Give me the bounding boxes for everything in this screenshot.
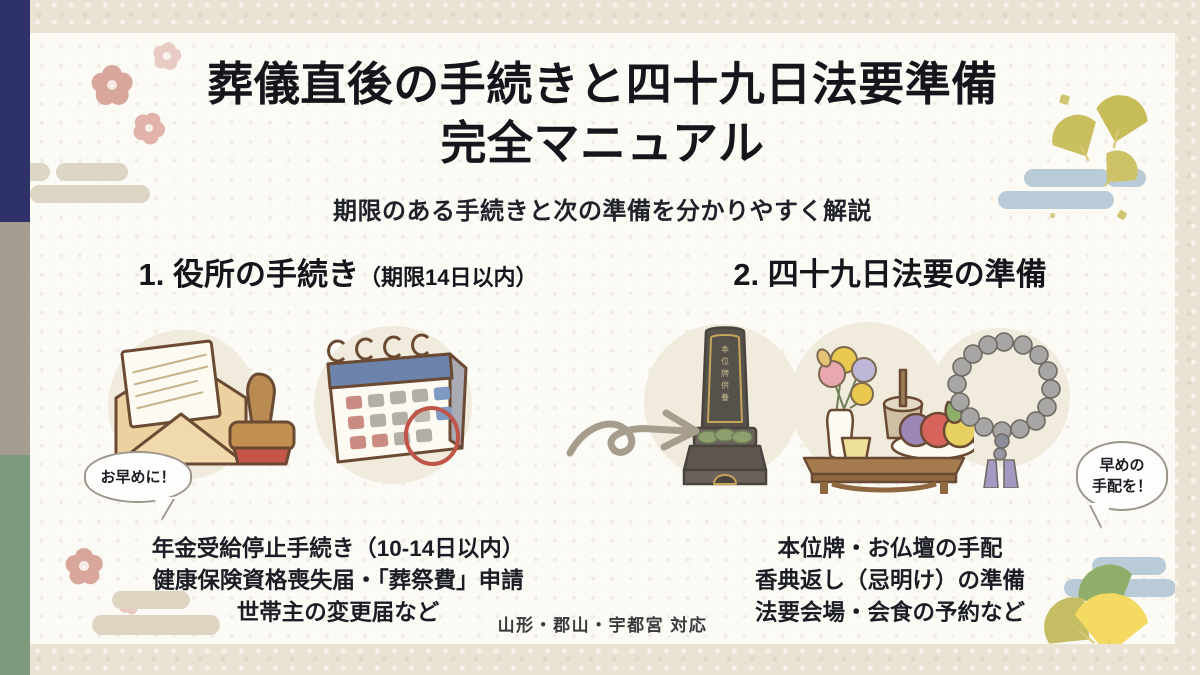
title-line-2: 完全マニュアル <box>30 115 1175 173</box>
section-heading-1: 1. 役所の手続き（期限14日以内） <box>78 249 598 294</box>
title-line-1: 葬儀直後の手続きと四十九日法要準備 <box>30 55 1175 115</box>
section-heading-2-main: 2. 四十九日法要の準備 <box>733 257 1046 292</box>
page-subtitle: 期限のある手続きと次の準備を分かりやすく解説 <box>30 191 1175 226</box>
hurry-bubble-right-line-1: 早めの <box>1099 455 1144 476</box>
hurry-bubble-left: お早めに！ <box>84 451 192 503</box>
svg-text:位: 位 <box>721 356 729 366</box>
page-title: 葬儀直後の手続きと四十九日法要準備 完全マニュアル <box>30 55 1175 173</box>
section-heading-1-paren: （期限14日以内） <box>359 265 537 290</box>
hanko-stamp-icon <box>218 366 314 476</box>
section-yakusho: 1. 役所の手続き（期限14日以内） <box>78 249 598 498</box>
desk-calendar-icon <box>310 328 480 488</box>
svg-text:供: 供 <box>721 380 729 390</box>
body-line: 年金受給停止手続き（10-14日以内） <box>78 533 598 565</box>
footer-coverage-note: 山形・郡山・宇都宮 対応 <box>30 611 1175 636</box>
hurry-bubble-right-line-2: 手配を！ <box>1092 476 1152 497</box>
svg-text:養: 養 <box>721 392 729 402</box>
main-card: 葬儀直後の手続きと四十九日法要準備 完全マニュアル 期限のある手続きと次の準備を… <box>30 33 1175 644</box>
prayer-beads-juzu-icon <box>942 328 1066 488</box>
hurry-bubble-right: 早めの 手配を！ <box>1076 441 1168 511</box>
slide-canvas: 葬儀直後の手続きと四十九日法要準備 完全マニュアル 期限のある手続きと次の準備を… <box>0 0 1200 675</box>
svg-text:本: 本 <box>721 344 729 354</box>
section-heading-2: 2. 四十九日法要の準備 <box>630 249 1150 294</box>
left-band-taupe <box>0 222 30 455</box>
left-band-green <box>0 455 30 675</box>
hurry-bubble-left-line-1: お早めに！ <box>100 468 175 487</box>
body-line: 香典返し（忌明け）の準備 <box>630 565 1150 597</box>
body-line: 健康保険資格喪失届・「葬祭費」申請 <box>78 565 598 597</box>
body-line: 本位牌・お仏壇の手配 <box>630 533 1150 565</box>
left-band-navy <box>0 0 30 222</box>
svg-text:牌: 牌 <box>721 368 729 378</box>
curved-arrow-icon <box>560 401 720 471</box>
section-heading-1-main: 1. 役所の手続き <box>139 257 359 292</box>
